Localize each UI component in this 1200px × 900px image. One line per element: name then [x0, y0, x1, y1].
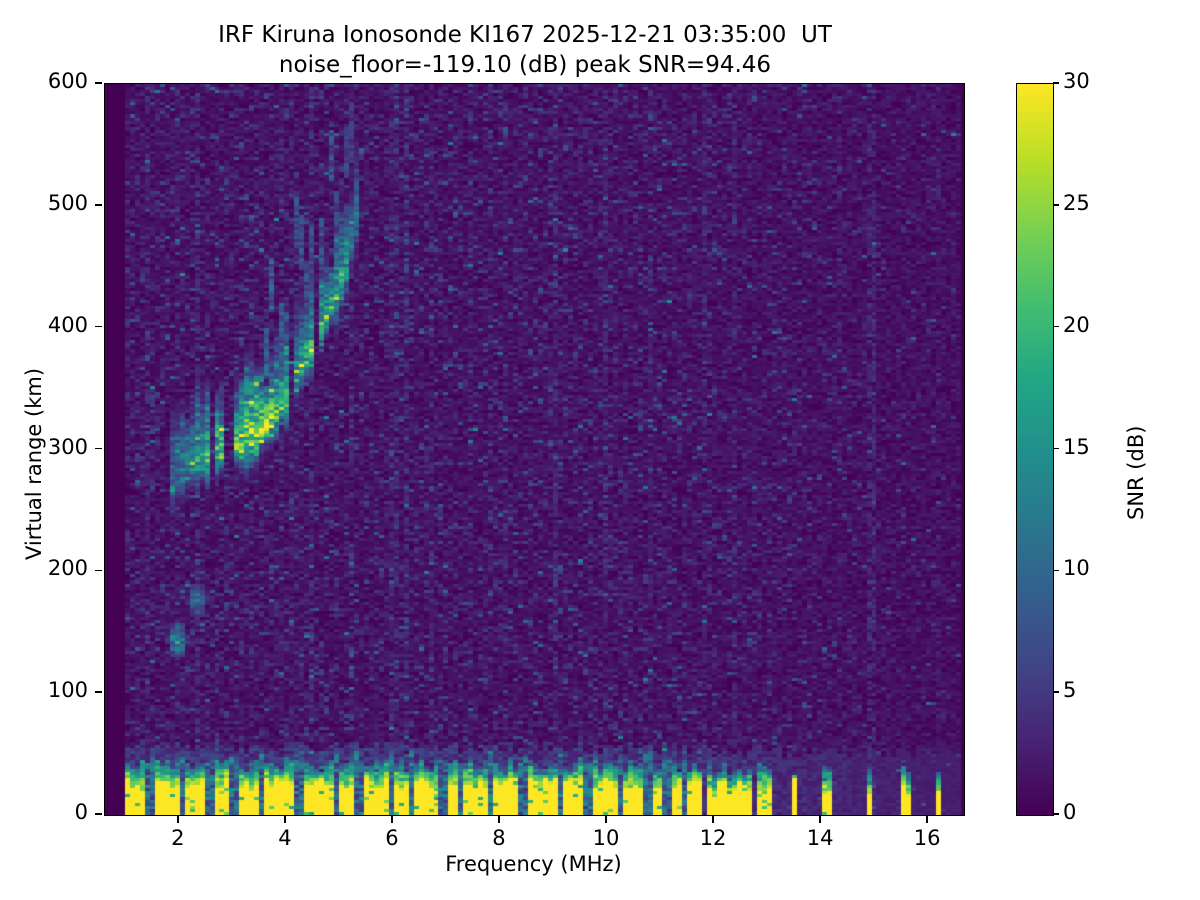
colorbar-tick-label: 5: [1063, 678, 1076, 702]
y-tick-mark: [95, 813, 102, 815]
x-tick-label: 6: [352, 826, 432, 850]
x-tick-mark: [926, 816, 928, 823]
colorbar-tick-mark: [1053, 448, 1059, 450]
x-tick-mark: [498, 816, 500, 823]
y-tick-mark: [95, 448, 102, 450]
colorbar-tick-mark: [1053, 204, 1059, 206]
colorbar-gradient: [1017, 84, 1053, 815]
colorbar-tick-mark: [1053, 326, 1059, 328]
y-tick-label: 400: [8, 313, 88, 337]
x-tick-mark: [177, 816, 179, 823]
x-tick-label: 14: [780, 826, 860, 850]
colorbar-tick-label: 25: [1063, 191, 1090, 215]
colorbar-tick-label: 15: [1063, 435, 1090, 459]
ionogram-heatmap-canvas: [105, 84, 964, 815]
x-axis-label: Frequency (MHz): [104, 852, 963, 876]
x-tick-label: 12: [673, 826, 753, 850]
ionogram-figure: IRF Kiruna Ionosonde KI167 2025-12-21 03…: [0, 0, 1200, 900]
y-tick-mark: [95, 204, 102, 206]
x-tick-mark: [391, 816, 393, 823]
y-tick-label: 600: [8, 69, 88, 93]
y-tick-mark: [95, 82, 102, 84]
title-line-1: IRF Kiruna Ionosonde KI167 2025-12-21 03…: [0, 20, 1050, 50]
x-tick-label: 4: [245, 826, 325, 850]
colorbar-tick-label: 10: [1063, 556, 1090, 580]
y-tick-label: 200: [8, 556, 88, 580]
x-tick-label: 2: [138, 826, 218, 850]
y-tick-mark: [95, 326, 102, 328]
x-tick-mark: [284, 816, 286, 823]
y-tick-label: 300: [8, 435, 88, 459]
y-tick-mark: [95, 691, 102, 693]
colorbar-label: SNR (dB): [1124, 426, 1148, 520]
colorbar-tick-mark: [1053, 82, 1059, 84]
x-tick-label: 16: [887, 826, 967, 850]
colorbar-tick-label: 20: [1063, 313, 1090, 337]
colorbar: [1016, 83, 1054, 816]
x-tick-mark: [819, 816, 821, 823]
x-tick-mark: [712, 816, 714, 823]
colorbar-tick-label: 30: [1063, 69, 1090, 93]
y-axis-label: Virtual range (km): [22, 368, 46, 560]
y-tick-label: 0: [8, 800, 88, 824]
colorbar-tick-mark: [1053, 570, 1059, 572]
colorbar-tick-label: 0: [1063, 800, 1076, 824]
figure-title: IRF Kiruna Ionosonde KI167 2025-12-21 03…: [0, 20, 1050, 80]
y-tick-label: 100: [8, 678, 88, 702]
y-tick-label: 500: [8, 191, 88, 215]
title-line-2: noise_floor=-119.10 (dB) peak SNR=94.46: [0, 50, 1050, 80]
colorbar-tick-mark: [1053, 813, 1059, 815]
ionogram-axes: [104, 83, 965, 816]
colorbar-tick-mark: [1053, 691, 1059, 693]
y-tick-mark: [95, 570, 102, 572]
x-tick-label: 8: [459, 826, 539, 850]
x-tick-mark: [605, 816, 607, 823]
x-tick-label: 10: [566, 826, 646, 850]
